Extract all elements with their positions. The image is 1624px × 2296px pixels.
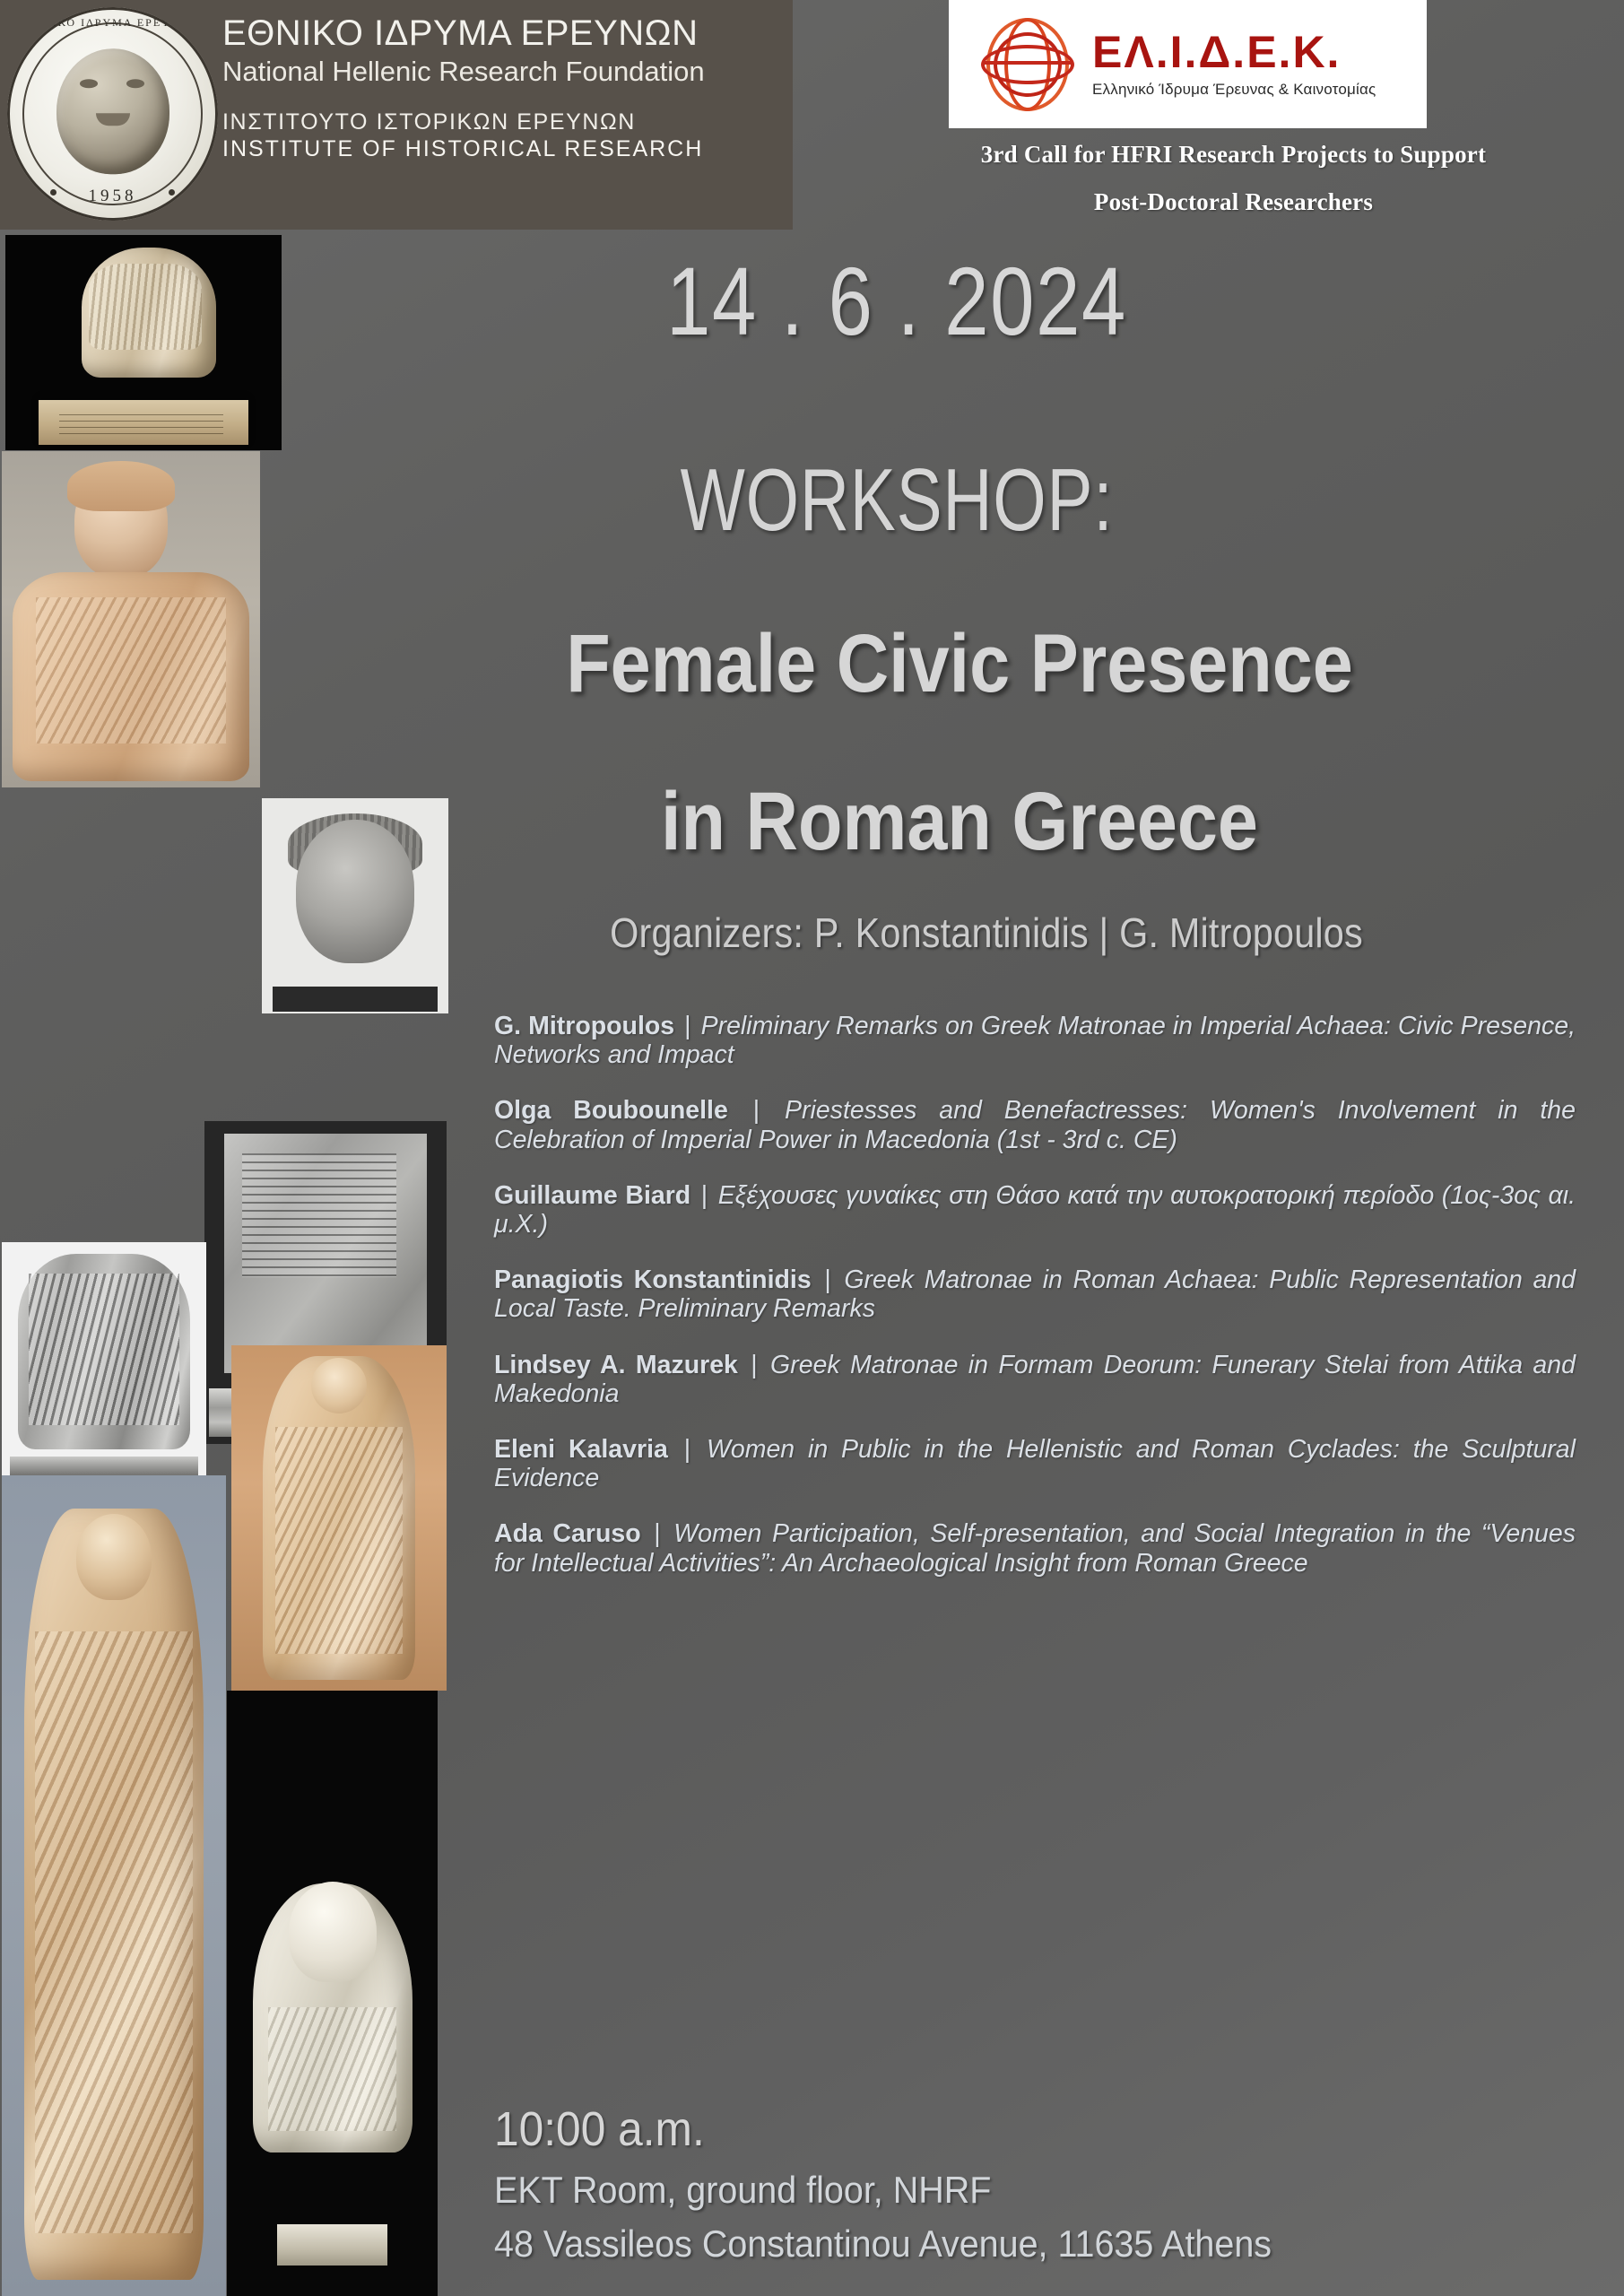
nhrf-institute-english: INSTITUTE OF HISTORICAL RESEARCH xyxy=(222,136,778,162)
program-speaker-name: Guillaume Biard xyxy=(494,1181,690,1210)
event-type-label: WORKSHOP: xyxy=(491,456,1303,544)
program-entry: Ada Caruso | Women Participation, Self-p… xyxy=(494,1519,1576,1577)
statue-photo-bw-draped xyxy=(2,1242,206,1480)
program-speaker-name: Eleni Kalavria xyxy=(494,1435,668,1464)
program-separator: | xyxy=(641,1519,674,1548)
program-entry: Olga Boubounelle | Priestesses and Benef… xyxy=(494,1096,1576,1153)
venue-room: EKT Room, ground floor, NHRF xyxy=(494,2169,991,2212)
poster-root: ΕΘΝΙΚΟ ΙΔΡΥΜΑ ΕΡΕΥΝΩΝ 1958 ΕΘΝΙΚΟ ΙΔΡΥΜΑ… xyxy=(0,0,1624,2296)
program-separator: | xyxy=(674,1012,700,1040)
statue-photo-draped-on-base xyxy=(5,235,282,450)
elidek-wordmark: ΕΛ.Ι.Δ.Ε.Κ. Ελληνικό Ίδρυμα Έρευνας & Κα… xyxy=(1092,30,1376,99)
start-time: 10:00 a.m. xyxy=(494,2101,705,2157)
statue-photo-orange-torso xyxy=(2,451,260,787)
nhrf-greek-name: ΕΘΝΙΚΟ ΙΔΡΥΜΑ ΕΡΕΥΝΩΝ xyxy=(222,14,778,53)
nhrf-seal-icon: ΕΘΝΙΚΟ ΙΔΡΥΜΑ ΕΡΕΥΝΩΝ 1958 xyxy=(7,7,218,221)
statue-photo-white-bust xyxy=(227,1691,438,2296)
program-separator: | xyxy=(738,1351,770,1379)
nhrf-logo-band: ΕΘΝΙΚΟ ΙΔΡΥΜΑ ΕΡΕΥΝΩΝ 1958 ΕΘΝΙΚΟ ΙΔΡΥΜΑ… xyxy=(0,0,793,230)
seal-portrait-icon xyxy=(56,48,169,174)
statue-photo-large-draped-female xyxy=(2,1475,226,2296)
statue-photo-tan-female xyxy=(231,1345,447,1691)
program-entry: Panagiotis Konstantinidis | Greek Matron… xyxy=(494,1265,1576,1323)
organizers-line: Organizers: P. Konstantinidis | G. Mitro… xyxy=(421,909,1551,957)
page-title-line-1: Female Civic Presence xyxy=(399,622,1520,705)
venue-address: 48 Vassileos Constantinou Avenue, 11635 … xyxy=(494,2222,1272,2266)
elidek-logo-box: ΕΛ.Ι.Δ.Ε.Κ. Ελληνικό Ίδρυμα Έρευνας & Κα… xyxy=(949,0,1427,128)
program-speaker-name: Olga Boubounelle xyxy=(494,1096,728,1125)
page-title-line-2: in Roman Greece xyxy=(399,780,1520,863)
program-list: G. Mitropoulos | Preliminary Remarks on … xyxy=(494,1012,1576,1578)
program-separator: | xyxy=(690,1181,718,1210)
program-speaker-name: G. Mitropoulos xyxy=(494,1012,674,1040)
program-separator: | xyxy=(728,1096,785,1125)
program-separator: | xyxy=(668,1435,707,1464)
program-entry: G. Mitropoulos | Preliminary Remarks on … xyxy=(494,1012,1576,1069)
program-entry: Guillaume Biard | Εξέχουσες γυναίκες στη… xyxy=(494,1181,1576,1239)
program-separator: | xyxy=(812,1265,845,1294)
seal-year: 1958 xyxy=(7,187,218,206)
nhrf-institute-greek: ΙΝΣΤΙΤΟΥΤΟ ΙΣΤΟΡΙΚΩΝ ΕΡΕΥΝΩΝ xyxy=(222,109,778,135)
elidek-acronym: ΕΛ.Ι.Δ.Ε.Κ. xyxy=(1092,30,1376,74)
program-speaker-name: Lindsey A. Mazurek xyxy=(494,1351,738,1379)
nhrf-english-name: National Hellenic Research Foundation xyxy=(222,55,778,90)
elidek-subtitle: Ελληνικό Ίδρυμα Έρευνας & Καινοτομίας xyxy=(1092,81,1376,99)
program-entry: Lindsey A. Mazurek | Greek Matronae in F… xyxy=(494,1351,1576,1408)
program-speaker-name: Ada Caruso xyxy=(494,1519,641,1548)
event-date: 14 . 6 . 2024 xyxy=(470,253,1323,350)
hfri-call-line-1: 3rd Call for HFRI Research Projects to S… xyxy=(843,141,1624,169)
program-speaker-name: Panagiotis Konstantinidis xyxy=(494,1265,812,1294)
hfri-call-line-2: Post-Doctoral Researchers xyxy=(843,188,1624,216)
seal-top-text: ΕΘΝΙΚΟ ΙΔΡΥΜΑ ΕΡΕΥΝΩΝ xyxy=(7,16,218,30)
elidek-globe-icon xyxy=(981,16,1078,113)
program-entry: Eleni Kalavria | Women in Public in the … xyxy=(494,1435,1576,1492)
nhrf-text-block: ΕΘΝΙΚΟ ΙΔΡΥΜΑ ΕΡΕΥΝΩΝ National Hellenic … xyxy=(222,14,778,162)
